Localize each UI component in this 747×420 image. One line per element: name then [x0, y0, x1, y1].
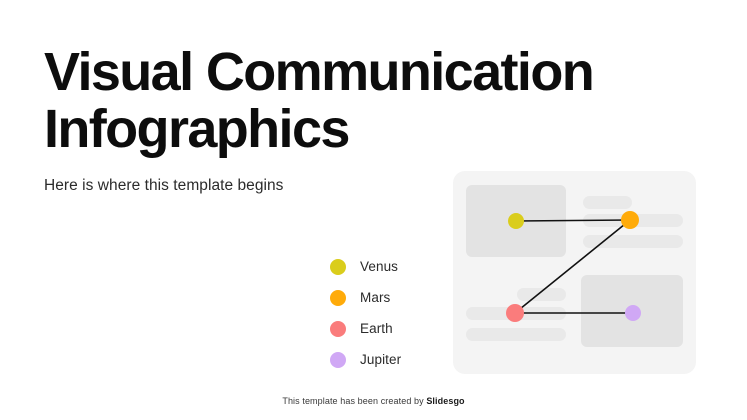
legend-dot-earth-icon	[330, 321, 346, 337]
diagram-node-mars[interactable]	[621, 211, 639, 229]
legend-label: Venus	[360, 259, 398, 274]
title-block: Visual Communication Infographics	[44, 44, 684, 158]
legend-item-jupiter[interactable]: Jupiter	[330, 351, 401, 368]
placeholder-bar-bottom-left-3	[466, 328, 566, 341]
diagram-panel	[453, 171, 696, 374]
legend: VenusMarsEarthJupiter	[330, 258, 401, 368]
footer-brand: Slidesgo	[426, 396, 464, 406]
legend-dot-venus-icon	[330, 259, 346, 275]
footer-text: This template has been created by	[282, 396, 426, 406]
legend-dot-jupiter-icon	[330, 352, 346, 368]
diagram-node-venus[interactable]	[508, 213, 524, 229]
legend-dot-mars-icon	[330, 290, 346, 306]
legend-label: Mars	[360, 290, 390, 305]
page-subtitle: Here is where this template begins	[44, 177, 283, 195]
footer: This template has been created by Slides…	[0, 396, 747, 406]
diagram-node-earth[interactable]	[506, 304, 524, 322]
legend-label: Earth	[360, 321, 393, 336]
legend-label: Jupiter	[360, 352, 401, 367]
legend-item-venus[interactable]: Venus	[330, 258, 401, 275]
diagram-node-jupiter[interactable]	[625, 305, 641, 321]
slide-canvas: Visual Communication Infographics Here i…	[0, 0, 747, 420]
placeholder-bar-top-right-1	[583, 196, 632, 209]
placeholder-bar-bottom-left-1	[517, 288, 566, 301]
legend-item-mars[interactable]: Mars	[330, 289, 401, 306]
placeholder-bar-top-right-3	[583, 235, 683, 248]
legend-item-earth[interactable]: Earth	[330, 320, 401, 337]
page-title: Visual Communication Infographics	[44, 44, 684, 158]
